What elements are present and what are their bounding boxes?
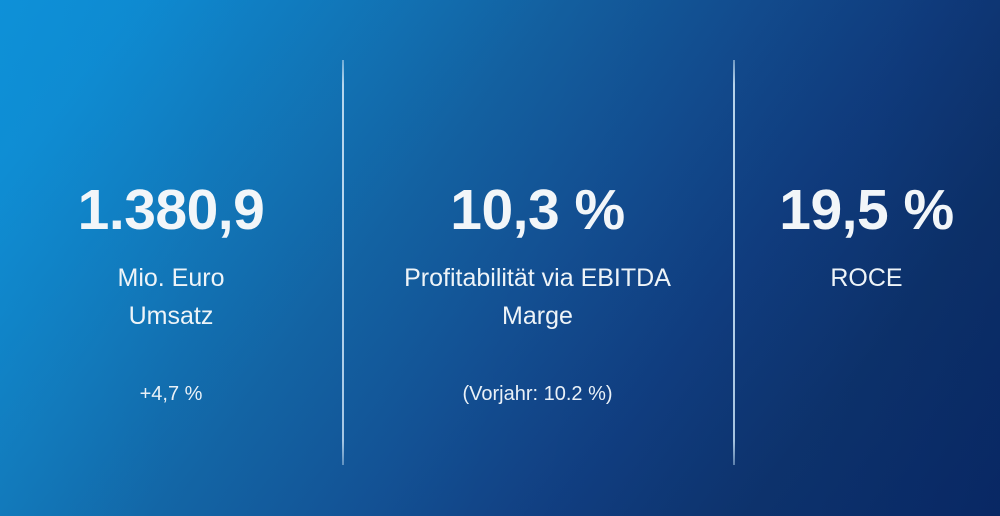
kpi-board: 1.380,9 Mio. Euro Umsatz +4,7 % 10,3 % P… — [0, 0, 1000, 516]
metric-label-revenue: Mio. Euro Umsatz — [118, 259, 225, 335]
metric-label-revenue-line1: Mio. Euro — [118, 259, 225, 297]
kpi-panel-roce: 19,5 % ROCE — [733, 0, 1000, 516]
metric-label-roce-line1: ROCE — [830, 259, 902, 297]
metric-label-profitability-line1: Profitabilität via EBITDA — [404, 259, 671, 297]
kpi-panel-group: 1.380,9 Mio. Euro Umsatz +4,7 % 10,3 % P… — [0, 0, 1000, 516]
metric-value-profitability: 10,3 % — [450, 182, 624, 239]
metric-label-roce: ROCE — [830, 259, 902, 297]
panel-divider-right — [733, 60, 735, 465]
kpi-panel-revenue: 1.380,9 Mio. Euro Umsatz +4,7 % — [0, 0, 342, 516]
metric-label-profitability-line2: Marge — [404, 297, 671, 335]
kpi-panel-profitability: 10,3 % Profitabilität via EBITDA Marge (… — [342, 0, 733, 516]
panel-divider-left — [342, 60, 344, 465]
metric-value-revenue: 1.380,9 — [78, 182, 265, 239]
metric-value-roce: 19,5 % — [779, 182, 953, 239]
metric-note-revenue: +4,7 % — [140, 381, 203, 407]
metric-label-revenue-line2: Umsatz — [118, 297, 225, 335]
metric-label-profitability: Profitabilität via EBITDA Marge — [404, 259, 671, 335]
metric-note-profitability: (Vorjahr: 10.2 %) — [462, 381, 612, 407]
